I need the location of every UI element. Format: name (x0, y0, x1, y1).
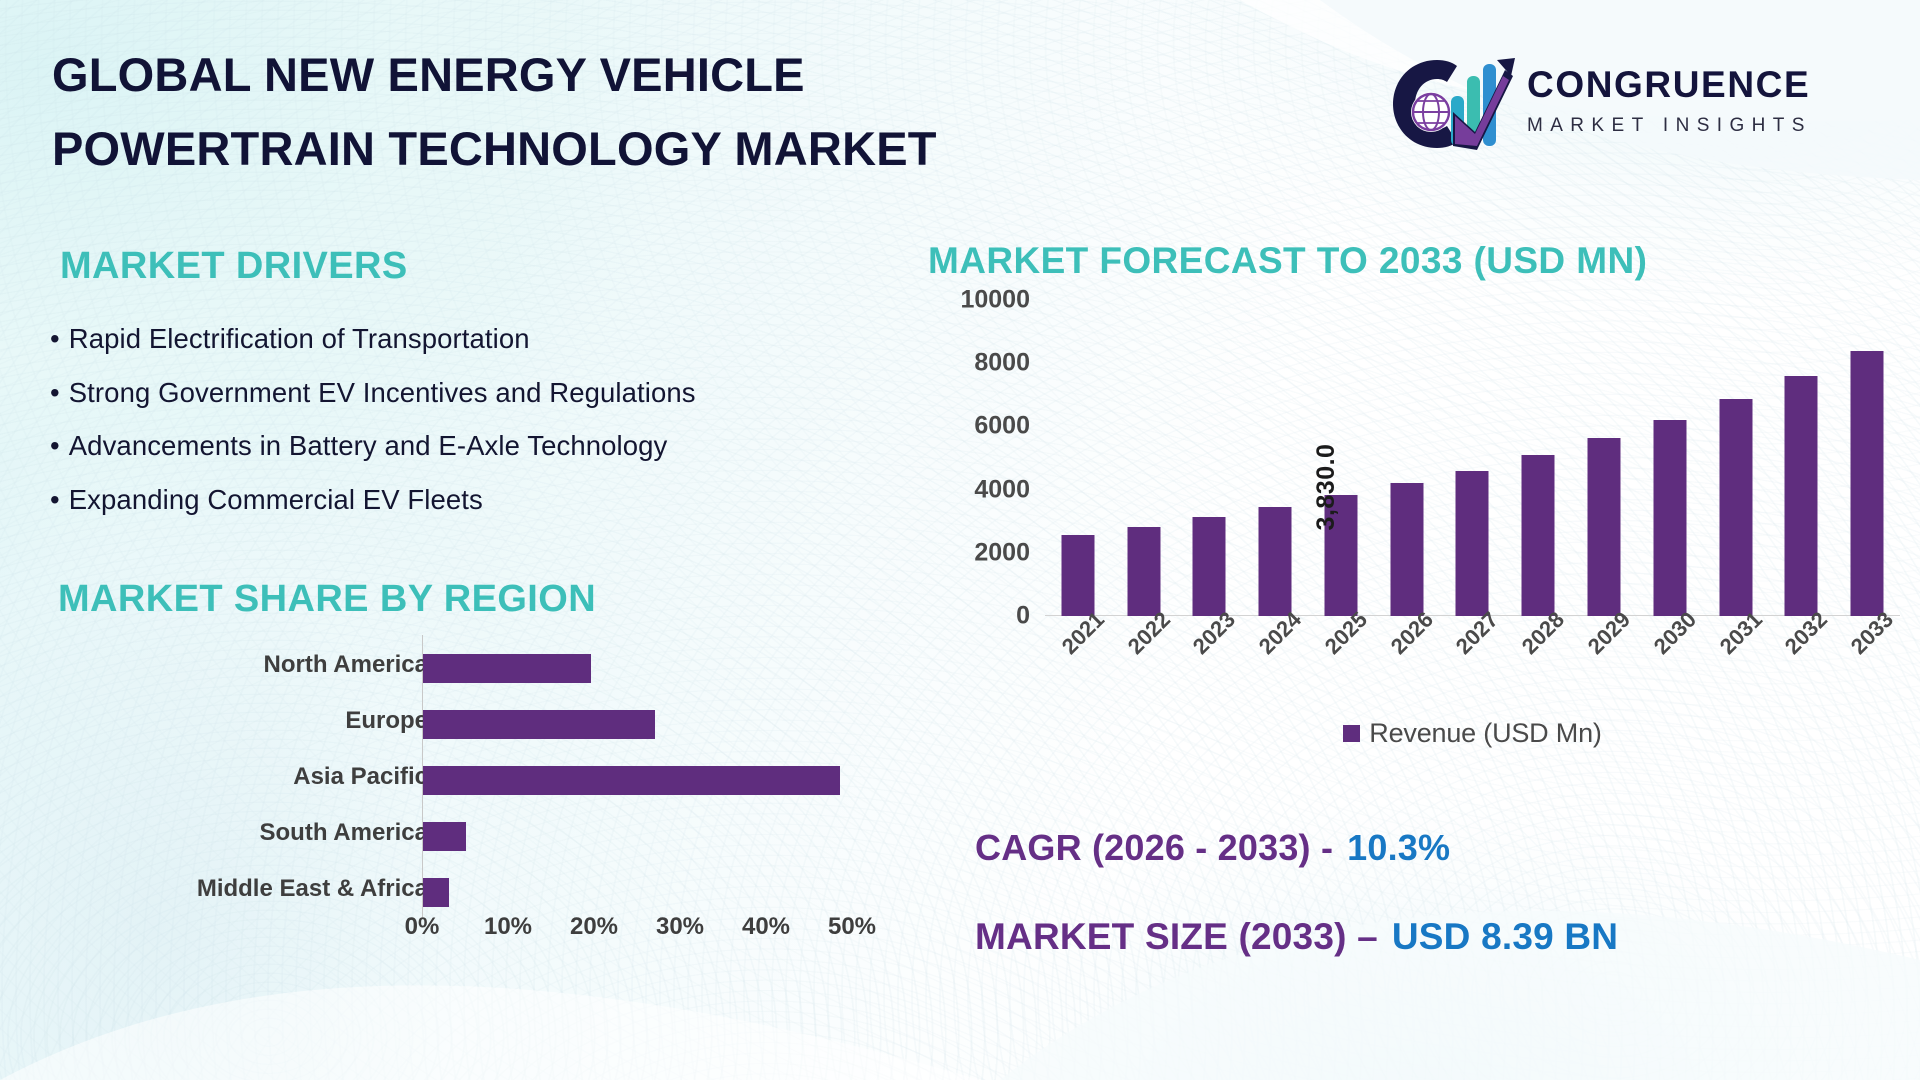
key-stats: CAGR (2026 - 2033) -10.3% MARKET SIZE (2… (975, 830, 1875, 955)
region-x-tick-label: 40% (742, 913, 790, 941)
market-forecast-chart: 1000080006000400020000 20212022202320243… (920, 300, 1900, 800)
forecast-y-tick-label: 4000 (974, 475, 1030, 504)
market-size-value: USD 8.39 BN (1392, 916, 1618, 957)
logo-tagline: MARKET INSIGHTS (1527, 116, 1812, 135)
bullet-icon: • (50, 430, 60, 461)
region-bar-label: Europe (345, 707, 428, 735)
page-title: GLOBAL NEW ENERGY VEHICLE POWERTRAIN TEC… (52, 38, 1092, 187)
market-drivers-heading: MARKET DRIVERS (60, 245, 408, 288)
forecast-y-tick-label: 0 (1016, 602, 1030, 631)
region-bar-row: North America (50, 645, 880, 701)
region-bar-label: Middle East & Africa (197, 875, 428, 903)
congruence-logo-icon (1385, 54, 1515, 152)
region-bar-row: South America (50, 813, 880, 869)
region-x-tick-label: 10% (484, 913, 532, 941)
region-x-tick-label: 50% (828, 913, 876, 941)
region-bar-label: Asia Pacific (293, 763, 428, 791)
list-item: •Rapid Electrification of Transportation (50, 325, 940, 353)
bullet-icon: • (50, 484, 60, 515)
region-bar-label: South America (260, 819, 428, 847)
cagr-value: 10.3% (1347, 827, 1450, 868)
logo-company-name: CONGRUENCE (1527, 66, 1812, 103)
region-bar (423, 766, 840, 795)
forecast-bar (1851, 351, 1884, 616)
forecast-bar (1259, 507, 1292, 616)
region-bar-row: Europe (50, 701, 880, 757)
market-share-by-region-chart: North AmericaEuropeAsia PacificSouth Ame… (50, 645, 880, 925)
forecast-y-tick-label: 2000 (974, 538, 1030, 567)
forecast-bar (1456, 471, 1489, 616)
region-bar (423, 654, 591, 683)
list-item-label: Strong Government EV Incentives and Regu… (69, 377, 696, 408)
region-bar (423, 710, 655, 739)
forecast-y-tick-label: 10000 (960, 286, 1030, 315)
cagr-label: CAGR (2026 - 2033) - (975, 827, 1333, 868)
market-share-heading: MARKET SHARE BY REGION (58, 578, 596, 621)
region-x-tick-label: 20% (570, 913, 618, 941)
forecast-bar (1193, 517, 1226, 616)
forecast-bar (1127, 527, 1160, 616)
legend-label: Revenue (USD Mn) (1369, 718, 1601, 749)
list-item-label: Expanding Commercial EV Fleets (69, 484, 483, 515)
forecast-y-tick-label: 8000 (974, 349, 1030, 378)
brand-logo: CONGRUENCE MARKET INSIGHTS (1385, 52, 1875, 157)
forecast-bar (1588, 438, 1621, 616)
region-x-tick-label: 30% (656, 913, 704, 941)
list-item: •Strong Government EV Incentives and Reg… (50, 379, 940, 407)
region-bar-label: North America (264, 651, 428, 679)
legend-swatch-icon (1343, 725, 1360, 742)
forecast-bar (1061, 535, 1094, 616)
market-size-stat: MARKET SIZE (2033) –USD 8.39 BN (975, 918, 1875, 955)
list-item-label: Rapid Electrification of Transportation (69, 323, 530, 354)
forecast-bar (1522, 455, 1555, 616)
bullet-icon: • (50, 323, 60, 354)
market-forecast-heading: MARKET FORECAST TO 2033 (USD MN) (928, 240, 1647, 282)
region-x-tick-label: 0% (405, 913, 440, 941)
forecast-bar (1719, 399, 1752, 616)
forecast-chart-legend: Revenue (USD Mn) (1045, 718, 1900, 749)
forecast-bar (1785, 376, 1818, 616)
logo-wordmark: CONGRUENCE MARKET INSIGHTS (1527, 66, 1812, 135)
region-bar (423, 822, 466, 851)
bullet-icon: • (50, 377, 60, 408)
forecast-data-label: 3,830.0 (1312, 444, 1341, 531)
page-title-line-1: GLOBAL NEW ENERGY VEHICLE (52, 38, 1092, 112)
forecast-chart-plot-area: 20212022202320243,830.020252026202720282… (1045, 300, 1900, 616)
list-item: •Expanding Commercial EV Fleets (50, 486, 940, 514)
forecast-bar (1653, 420, 1686, 616)
list-item-label: Advancements in Battery and E-Axle Techn… (69, 430, 668, 461)
forecast-chart-y-axis: 1000080006000400020000 (920, 300, 1030, 616)
cagr-stat: CAGR (2026 - 2033) -10.3% (975, 830, 1875, 866)
region-bar-row: Asia Pacific (50, 757, 880, 813)
page-title-line-2: POWERTRAIN TECHNOLOGY MARKET (52, 112, 1092, 186)
forecast-y-tick-label: 6000 (974, 412, 1030, 441)
region-bar (423, 878, 449, 907)
market-size-label: MARKET SIZE (2033) – (975, 916, 1378, 957)
list-item: •Advancements in Battery and E-Axle Tech… (50, 432, 940, 460)
forecast-bar (1390, 483, 1423, 616)
market-drivers-list: •Rapid Electrification of Transportation… (50, 325, 940, 539)
